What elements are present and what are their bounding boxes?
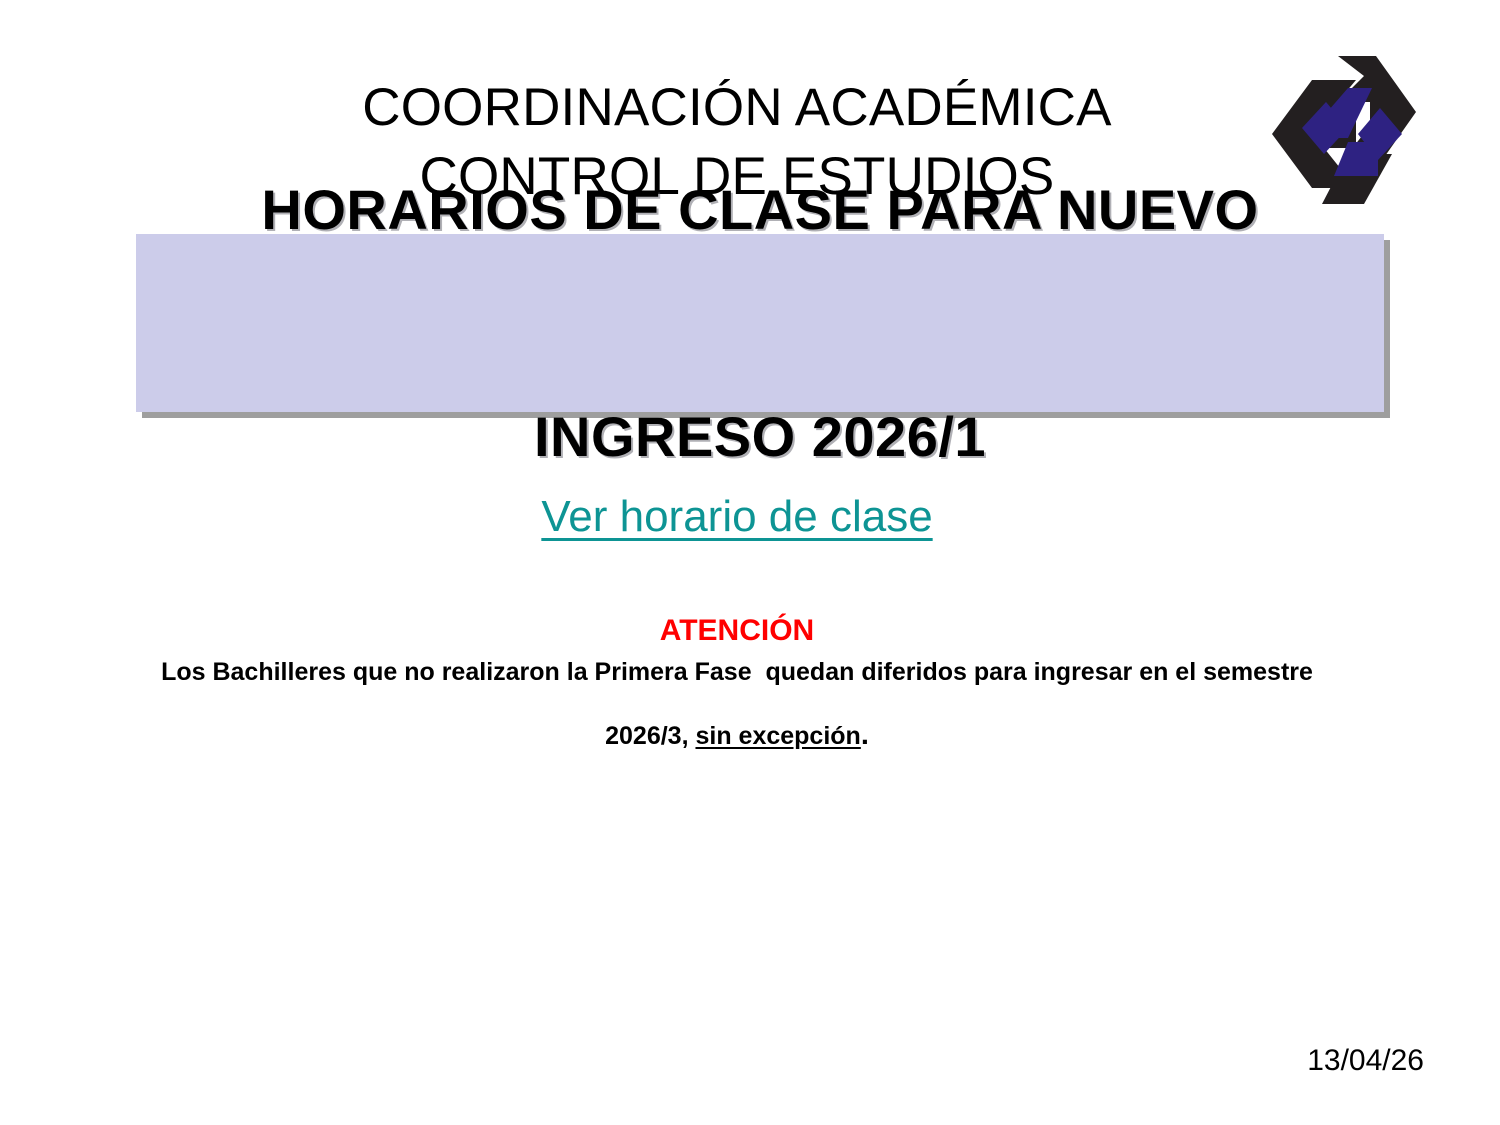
banner-title-line-2: INGRESO 2026/1 bbox=[261, 399, 1258, 475]
notice-paragraph-line-2: 2026/3, sin excepción. bbox=[0, 714, 1474, 756]
view-class-schedule-link[interactable]: Ver horario de clase bbox=[541, 492, 932, 541]
banner-title-line-1: HORARIOS DE CLASE PARA NUEVO bbox=[261, 172, 1258, 248]
notice-paragraph-line-1: Los Bachilleres que no realizaron la Pri… bbox=[0, 654, 1474, 690]
attention-heading: ATENCIÓN bbox=[0, 612, 1474, 650]
attention-notice: ATENCIÓN Los Bachilleres que no realizar… bbox=[0, 612, 1474, 756]
schedule-link-row: Ver horario de clase bbox=[0, 492, 1474, 542]
notice-line2-prefix: 2026/3, bbox=[605, 722, 695, 750]
date-stamp: 13/04/26 bbox=[1307, 1046, 1424, 1076]
notice-line2-emphasis: sin excepción bbox=[695, 722, 860, 750]
banner-container: HORARIOS DE CLASE PARA NUEVO INGRESO 202… bbox=[136, 234, 1384, 412]
announcement-banner: HORARIOS DE CLASE PARA NUEVO INGRESO 202… bbox=[136, 234, 1384, 412]
slide-canvas: COORDINACIÓN ACADÉMICA CONTROL DE ESTUDI… bbox=[0, 0, 1500, 1125]
notice-line2-suffix: . bbox=[861, 719, 869, 751]
